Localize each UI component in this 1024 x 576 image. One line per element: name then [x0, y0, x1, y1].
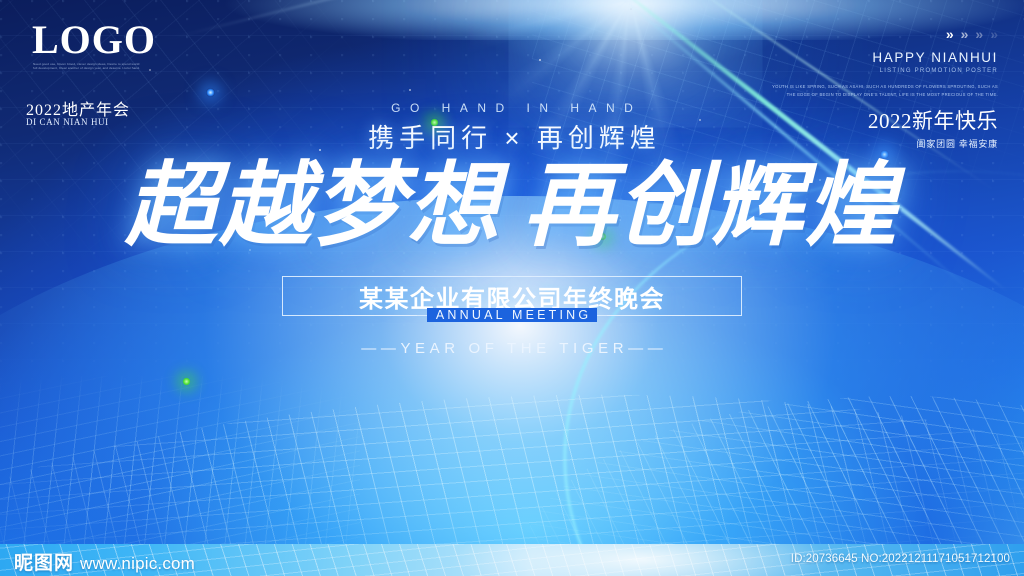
- poster-canvas: LOGO Need good use, bloom blood, clever …: [0, 0, 1024, 576]
- divider-right: [607, 315, 685, 316]
- poster-subheading: LISTING PROMOTION POSTER: [768, 68, 998, 74]
- glow-dot-green: [182, 377, 191, 386]
- zodiac-year-label: ——YEAR OF THE TIGER——: [0, 340, 1024, 357]
- youth-paragraph: YOUTH IS LIKE SPRING, SUCH AS ASAHI, SUC…: [768, 83, 998, 98]
- annual-meeting-row: ANNUAL MEETING: [0, 308, 1024, 322]
- footer-site-logo[interactable]: 昵图网 www.nipic.com: [14, 548, 195, 575]
- main-title-right: 再创辉煌: [523, 155, 899, 257]
- tagline-english: GO HAND IN HAND: [0, 101, 1024, 115]
- footer-site-url[interactable]: www.nipic.com: [80, 554, 195, 574]
- main-title: 超越梦想再创辉煌: [0, 156, 1024, 256]
- tagline-chinese: 携手同行 × 再创辉煌: [0, 118, 1024, 155]
- footer-site-name-cn: 昵图网: [14, 548, 74, 575]
- brand-logo: LOGO: [32, 20, 156, 60]
- chevron-right-icon: »: [975, 27, 983, 41]
- footer-asset-id: ID:20736645 NO:20221211171051712100: [791, 553, 1010, 565]
- brand-logo-caption: Need good use, bloom blood, clever desig…: [33, 62, 141, 71]
- chevron-right-icon: »: [946, 27, 954, 41]
- chevron-row: » » » »: [768, 26, 998, 41]
- glow-dot-blue: [206, 88, 215, 97]
- chevron-right-icon: »: [990, 27, 998, 41]
- tagline-separator-icon: ×: [504, 123, 524, 153]
- footer-glow: [451, 544, 831, 576]
- tagline-cn-right: 再创辉煌: [537, 123, 661, 153]
- wave-mesh-grid: [0, 376, 360, 566]
- tagline-cn-left: 携手同行: [368, 123, 492, 153]
- happy-nianhui-heading: HAPPY NIANHUI: [768, 50, 998, 65]
- annual-meeting-label: ANNUAL MEETING: [427, 308, 598, 322]
- watermark-footer: 昵图网 www.nipic.com ID:20736645 NO:2022121…: [0, 544, 1024, 576]
- chevron-right-icon: »: [961, 27, 969, 41]
- main-title-left: 超越梦想: [125, 155, 501, 257]
- divider-left: [339, 315, 417, 316]
